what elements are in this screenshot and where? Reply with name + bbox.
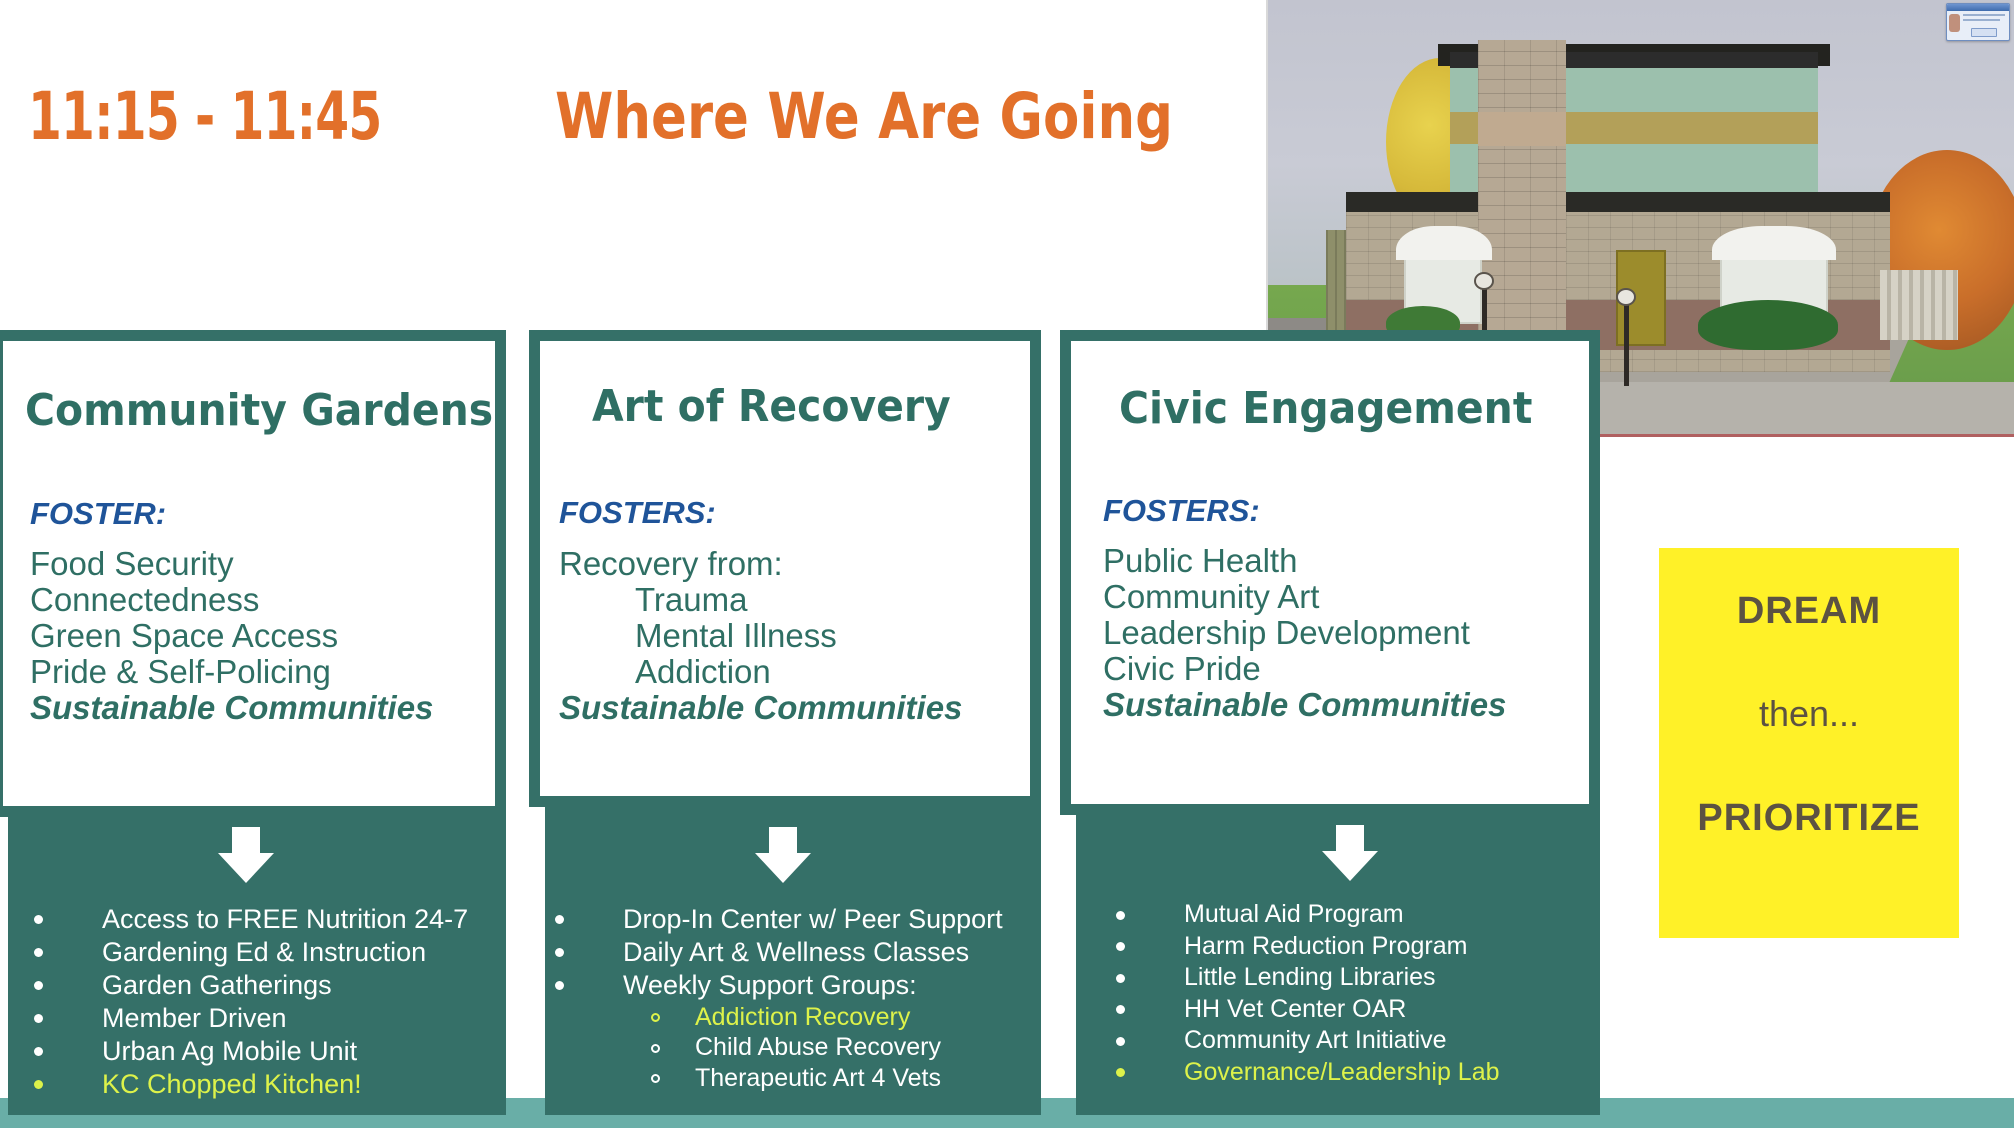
dialog-ok-button[interactable] xyxy=(1971,28,1997,37)
list-item: Little Lending Libraries xyxy=(1116,962,1500,994)
panel-art-of-recovery-top: Art of Recovery FOSTERS: Recovery from: … xyxy=(529,330,1041,807)
dream-prioritize-note: DREAM then... PRIORITIZE xyxy=(1659,548,1959,938)
list-item-label: Gardening Ed & Instruction xyxy=(102,937,426,967)
fosters-list: Food Security Connectedness Green Space … xyxy=(30,546,433,726)
list-item-label: Access to FREE Nutrition 24-7 xyxy=(102,904,468,934)
session-time-range: 11:15 - 11:45 xyxy=(28,78,381,155)
fosters-label: FOSTERS: xyxy=(1103,493,1260,529)
panel-civic-engagement-bottom: Mutual Aid Program Harm Reduction Progra… xyxy=(1076,815,1600,1115)
list-item: Gardening Ed & Instruction xyxy=(34,936,468,969)
dialog-text-line xyxy=(1963,19,2000,21)
list-item: Weekly Support Groups: xyxy=(555,969,1003,1002)
fosters-list: Recovery from: Trauma Mental Illness Add… xyxy=(559,546,962,726)
fosters-item: Addiction xyxy=(559,654,962,690)
list-item: Mutual Aid Program xyxy=(1116,899,1500,931)
bullet-dot-icon xyxy=(34,948,43,957)
dream-note-line-3: PRIORITIZE xyxy=(1659,797,1959,840)
lamp-post-head xyxy=(1616,288,1636,306)
bullet-dot-icon xyxy=(34,1047,43,1056)
bottom-white-strip xyxy=(0,1128,2014,1134)
list-item: Member Driven xyxy=(34,1002,468,1035)
shrub-cluster xyxy=(1698,300,1838,350)
list-item-highlighted: KC Chopped Kitchen! xyxy=(34,1068,468,1101)
list-item: Garden Gatherings xyxy=(34,969,468,1002)
list-item-label: Garden Gatherings xyxy=(102,970,332,1000)
dream-note-line-1: DREAM xyxy=(1659,590,1959,633)
list-item: Drop-In Center w/ Peer Support xyxy=(555,903,1003,936)
bullet-circle-icon xyxy=(651,1074,660,1083)
panel-community-gardens-bottom: Access to FREE Nutrition 24-7 Gardening … xyxy=(8,817,506,1115)
fosters-item: Community Art xyxy=(1103,579,1506,615)
list-item: Daily Art & Wellness Classes xyxy=(555,936,1003,969)
fosters-item: Trauma xyxy=(559,582,962,618)
bullet-dot-icon xyxy=(1116,1005,1125,1014)
list-item: HH Vet Center OAR xyxy=(1116,994,1500,1026)
lamp-post-pole xyxy=(1624,300,1629,386)
fosters-item: Pride & Self-Policing xyxy=(30,654,433,690)
list-item-label: Child Abuse Recovery xyxy=(695,1033,941,1061)
bullet-dot-icon xyxy=(1116,1068,1125,1077)
fosters-item: Civic Pride xyxy=(1103,651,1506,687)
list-item: Child Abuse Recovery xyxy=(555,1032,1003,1063)
right-awning xyxy=(1712,226,1836,260)
chimney xyxy=(1478,40,1566,360)
fosters-item: Sustainable Communities xyxy=(1103,687,1506,723)
slide-canvas: 11:15 - 11:45 Where We Are Going xyxy=(0,0,2014,1134)
page-title: Where We Are Going xyxy=(555,80,1173,153)
yard-light-head xyxy=(1474,272,1494,290)
list-item-label: Governance/Leadership Lab xyxy=(1184,1058,1500,1086)
outcomes-list: Access to FREE Nutrition 24-7 Gardening … xyxy=(34,903,468,1101)
panel-civic-engagement-top: Civic Engagement FOSTERS: Public Health … xyxy=(1060,330,1600,815)
list-item-label: Community Art Initiative xyxy=(1184,1026,1447,1054)
panel-art-of-recovery-bottom: Drop-In Center w/ Peer Support Daily Art… xyxy=(545,807,1041,1115)
bullet-dot-icon xyxy=(555,915,564,924)
fosters-item: Green Space Access xyxy=(30,618,433,654)
list-item-label: Therapeutic Art 4 Vets xyxy=(695,1064,941,1092)
sims-notification-dialog[interactable] xyxy=(1946,3,2010,41)
dream-note-line-2: then... xyxy=(1659,693,1959,735)
fosters-label: FOSTER: xyxy=(30,496,166,532)
fosters-item: Recovery from: xyxy=(559,546,962,582)
bullet-dot-icon xyxy=(1116,974,1125,983)
panel-title: Art of Recovery xyxy=(592,381,951,432)
list-item: Urban Ag Mobile Unit xyxy=(34,1035,468,1068)
list-item: Therapeutic Art 4 Vets xyxy=(555,1063,1003,1094)
panel-title: Civic Engagement xyxy=(1119,383,1532,434)
list-item-label: Harm Reduction Program xyxy=(1184,932,1467,960)
list-item-label: Member Driven xyxy=(102,1003,287,1033)
list-item-label: Drop-In Center w/ Peer Support xyxy=(623,904,1003,934)
list-item-label: Urban Ag Mobile Unit xyxy=(102,1036,357,1066)
picket-fence xyxy=(1880,270,1958,340)
fosters-item: Connectedness xyxy=(30,582,433,618)
bullet-dot-icon xyxy=(1116,911,1125,920)
list-item-label: Little Lending Libraries xyxy=(1184,963,1436,991)
fosters-item: Sustainable Communities xyxy=(30,690,433,726)
bullet-circle-icon xyxy=(651,1013,660,1022)
list-item-label: KC Chopped Kitchen! xyxy=(102,1069,362,1099)
fosters-item: Sustainable Communities xyxy=(559,690,962,726)
outcomes-list: Drop-In Center w/ Peer Support Daily Art… xyxy=(555,903,1003,1093)
bullet-dot-icon xyxy=(34,915,43,924)
list-item-label: Mutual Aid Program xyxy=(1184,900,1404,928)
list-item: Access to FREE Nutrition 24-7 xyxy=(34,903,468,936)
fosters-item: Food Security xyxy=(30,546,433,582)
chimney-band xyxy=(1478,112,1566,146)
outcomes-list: Mutual Aid Program Harm Reduction Progra… xyxy=(1116,899,1500,1088)
dialog-avatar xyxy=(1949,14,1960,32)
list-item-highlighted: Addiction Recovery xyxy=(555,1002,1003,1033)
list-item: Community Art Initiative xyxy=(1116,1025,1500,1057)
list-item-highlighted: Governance/Leadership Lab xyxy=(1116,1057,1500,1089)
dialog-titlebar xyxy=(1947,4,2009,11)
panel-community-gardens-top: Community Gardens FOSTER: Food Security … xyxy=(0,330,506,817)
list-item-label: Weekly Support Groups: xyxy=(623,970,917,1000)
dialog-text-line xyxy=(1963,14,2005,16)
left-awning xyxy=(1396,226,1492,260)
fosters-label: FOSTERS: xyxy=(559,495,716,531)
bullet-dot-icon xyxy=(34,981,43,990)
bullet-dot-icon xyxy=(555,981,564,990)
slide-header: 11:15 - 11:45 Where We Are Going xyxy=(0,0,1268,330)
fosters-item: Leadership Development xyxy=(1103,615,1506,651)
fosters-list: Public Health Community Art Leadership D… xyxy=(1103,543,1506,723)
panel-title: Community Gardens xyxy=(25,385,493,436)
list-item: Harm Reduction Program xyxy=(1116,931,1500,963)
bullet-dot-icon xyxy=(1116,1037,1125,1046)
bullet-dot-icon xyxy=(1116,942,1125,951)
bullet-dot-icon xyxy=(34,1080,43,1089)
fosters-item: Public Health xyxy=(1103,543,1506,579)
list-item-label: HH Vet Center OAR xyxy=(1184,995,1406,1023)
fosters-item: Mental Illness xyxy=(559,618,962,654)
list-item-label: Daily Art & Wellness Classes xyxy=(623,937,969,967)
bullet-dot-icon xyxy=(34,1014,43,1023)
list-item-label: Addiction Recovery xyxy=(695,1003,910,1031)
bullet-circle-icon xyxy=(651,1044,660,1053)
bullet-dot-icon xyxy=(555,948,564,957)
